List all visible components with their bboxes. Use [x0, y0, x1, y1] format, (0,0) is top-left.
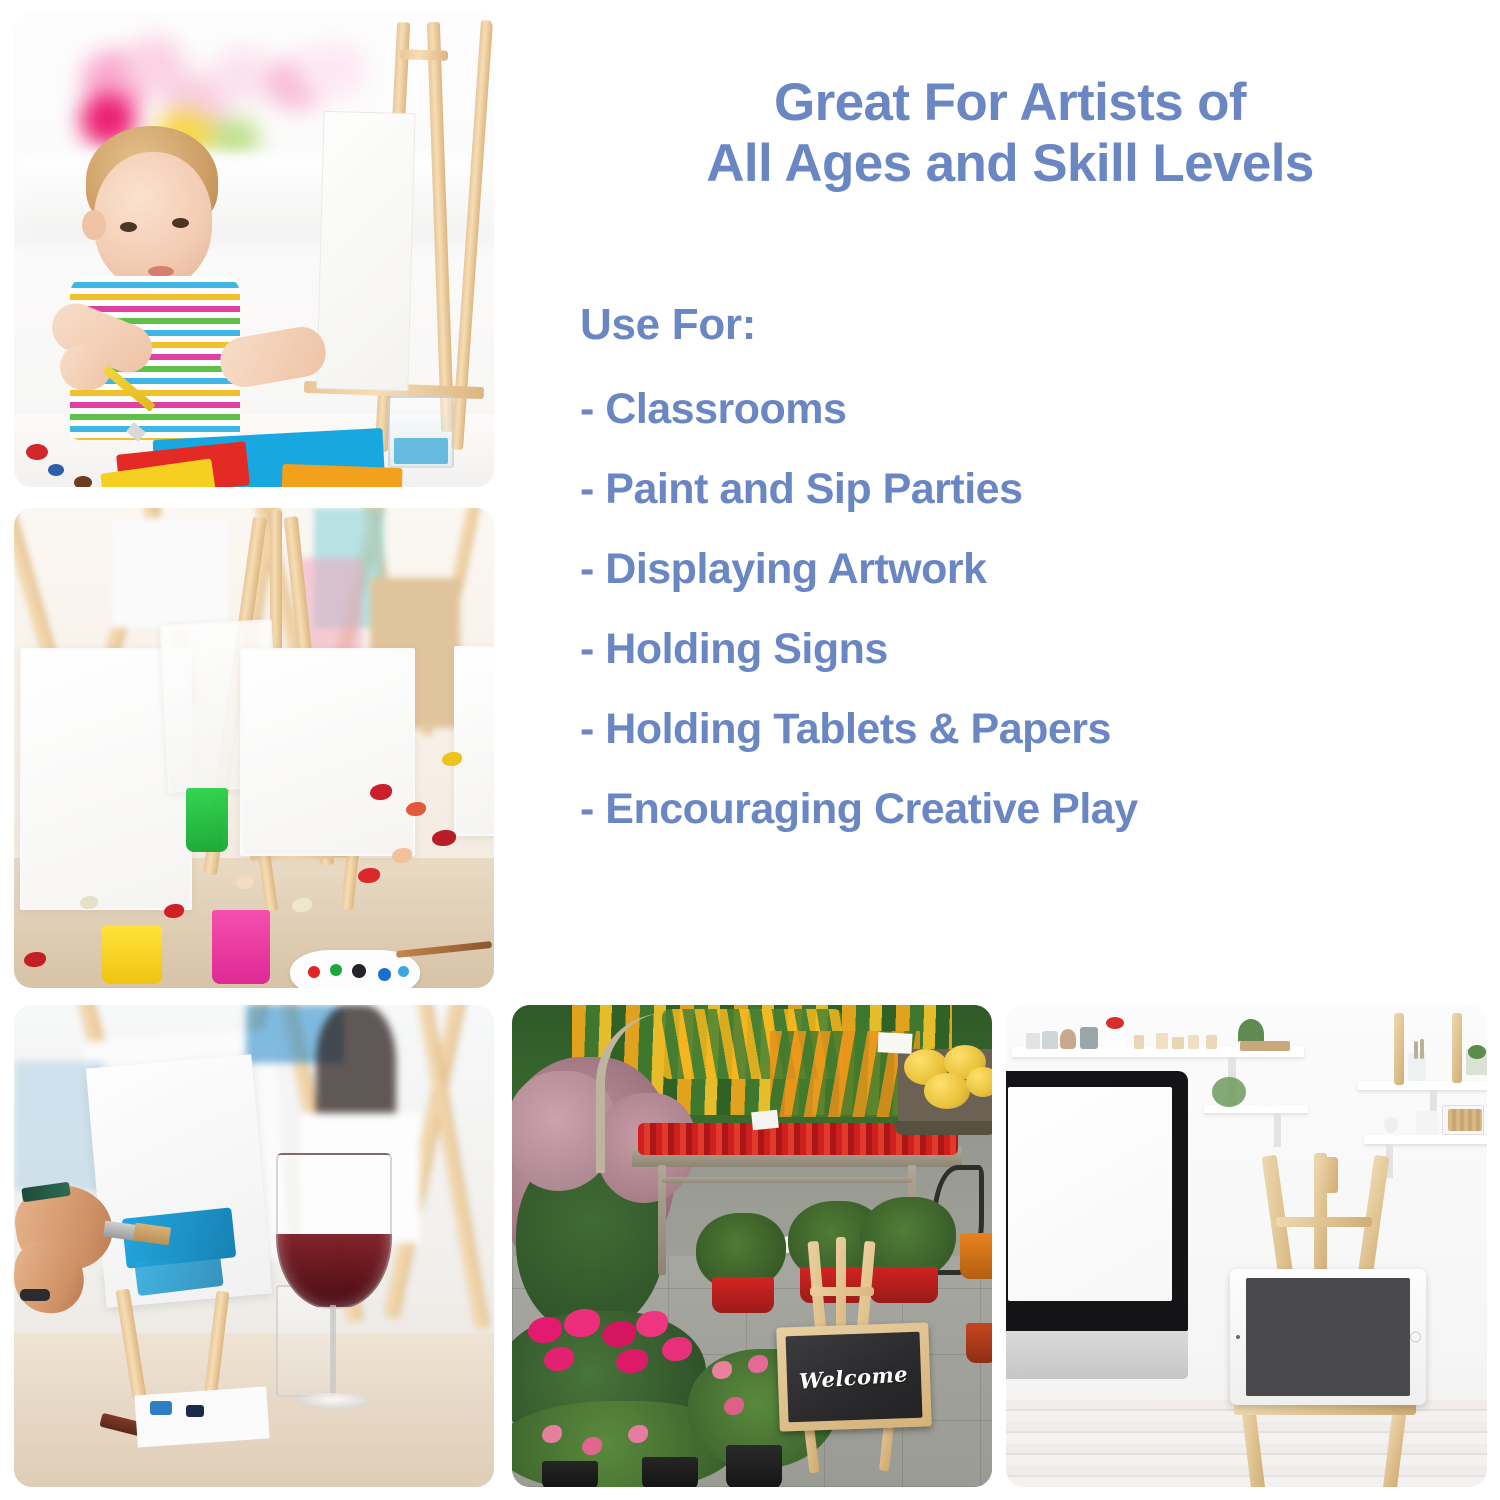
blank-canvas [240, 648, 415, 856]
easel-crossbar [400, 49, 448, 61]
paint-cup-yellow [102, 926, 162, 984]
blank-canvas [454, 646, 494, 836]
use-for-list: - Classrooms - Paint and Sip Parties - D… [580, 388, 1460, 868]
desktop-monitor [1006, 1071, 1188, 1331]
headline-line-1: Great For Artists of [774, 73, 1246, 132]
water-cup [388, 396, 454, 468]
welcome-text: Welcome [799, 1361, 910, 1394]
headline-line-2: All Ages and Skill Levels [530, 133, 1490, 194]
paint-cup-pink [212, 910, 270, 984]
list-item: - Classrooms [580, 388, 1460, 431]
wall-shelf [1358, 1081, 1487, 1090]
list-item: - Encouraging Creative Play [580, 788, 1460, 831]
infographic-page: Welcome [0, 0, 1500, 1500]
wristband [20, 1289, 50, 1301]
photo-tablet-on-easel [1006, 1005, 1487, 1487]
wall-shelf [1364, 1135, 1487, 1144]
welcome-chalkboard: Welcome [776, 1322, 932, 1431]
photo-flower-market: Welcome [512, 1005, 992, 1487]
list-item: - Displaying Artwork [580, 548, 1460, 591]
text-column: Great For Artists of All Ages and Skill … [530, 0, 1490, 980]
tablet-device [1230, 1269, 1426, 1405]
wall-shelf [1204, 1105, 1308, 1113]
list-item: - Holding Signs [580, 628, 1460, 671]
paint-cup-green [186, 788, 228, 852]
photo-mini-easels [14, 508, 494, 988]
photo-toddler-painting [14, 14, 494, 487]
easel-canvas [316, 111, 415, 391]
use-for-heading: Use For: [580, 300, 756, 350]
list-item: - Paint and Sip Parties [580, 468, 1460, 511]
welcome-sign-easel: Welcome [786, 1241, 926, 1471]
photo-paint-and-sip [14, 1005, 494, 1487]
page-title: Great For Artists of All Ages and Skill … [530, 72, 1490, 195]
list-item: - Holding Tablets & Papers [580, 708, 1460, 751]
